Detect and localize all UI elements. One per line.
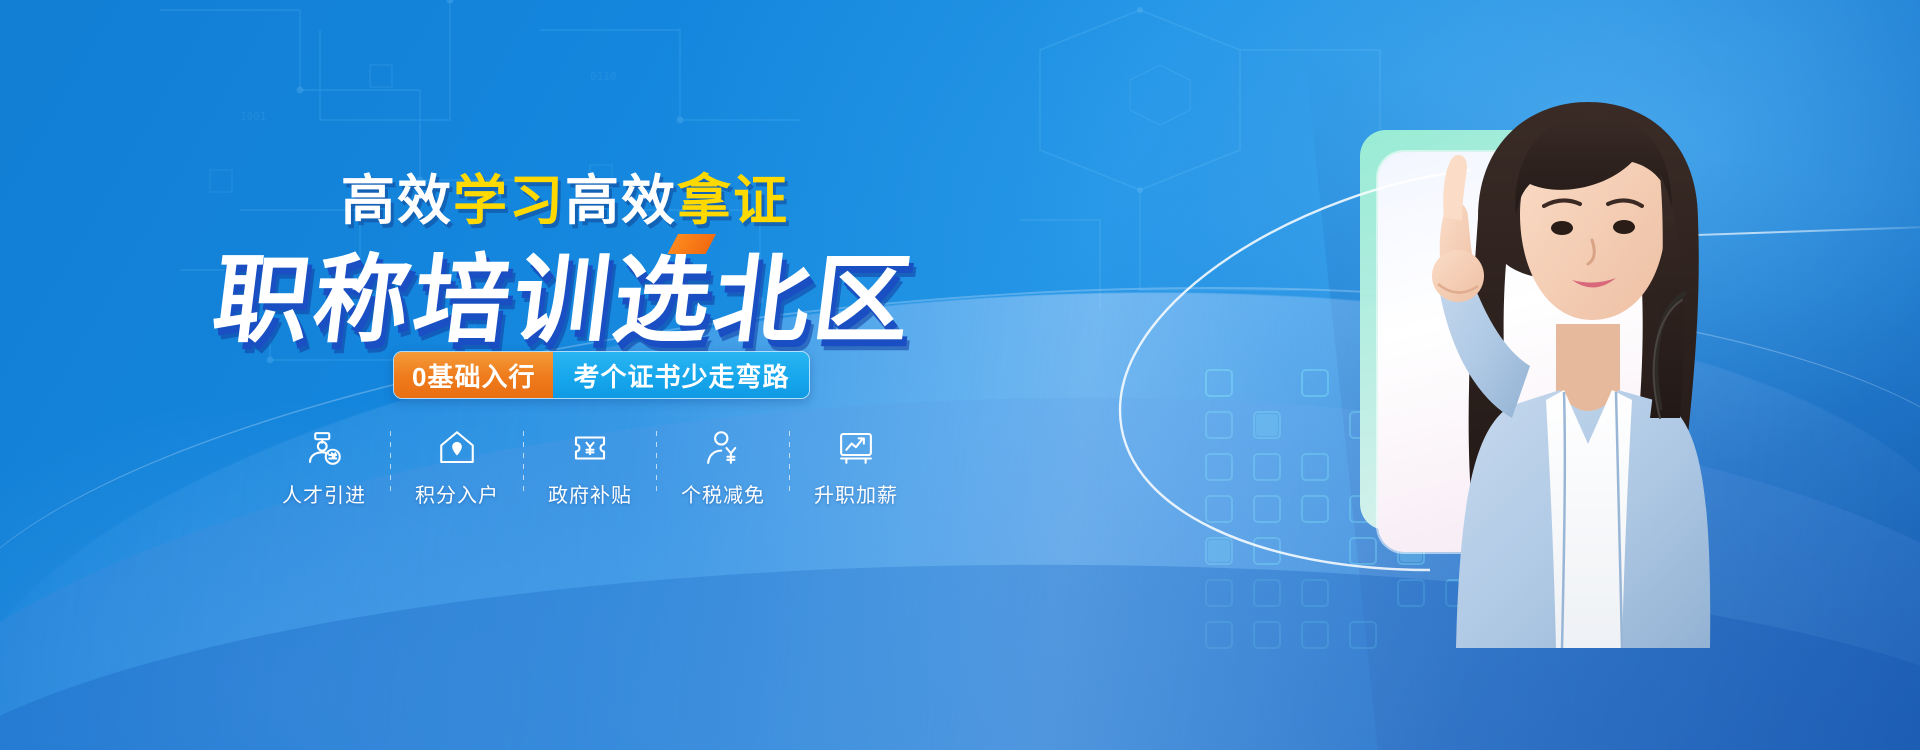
status-badge: 0基础入行 考个证书少走弯路 [393, 351, 810, 399]
promo-banner: 2 39 0110 1001 [0, 0, 1920, 750]
feature-label: 人才引进 [282, 479, 366, 508]
feature-item-residency[interactable]: 积分入户 [391, 427, 523, 508]
banner-content: 高效学习高效拿证 职称培训选北区 0基础入行 考个证书少走弯路 [0, 0, 1100, 750]
headline-main-text: 职称培训选北区 [207, 247, 920, 354]
badge-left-label: 0基础入行 [394, 352, 553, 398]
person-yuan-icon [702, 427, 744, 469]
feature-label: 升职加薪 [814, 479, 898, 508]
feature-item-talent[interactable]: 人才引进 [258, 427, 390, 508]
feature-item-promotion[interactable]: 升职加薪 [790, 427, 922, 508]
avatar [1360, 88, 1830, 648]
feature-item-taxcut[interactable]: 个税减免 [657, 427, 789, 508]
chart-board-icon [835, 427, 877, 469]
ticket-yuan-icon [569, 427, 611, 469]
feature-list: 人才引进 积分入户 [258, 427, 922, 508]
page-title: 职称培训选北区 [206, 222, 923, 361]
graduate-person-icon [303, 427, 345, 469]
feature-item-subsidy[interactable]: 政府补贴 [524, 427, 656, 508]
feature-label: 个税减免 [681, 479, 765, 508]
feature-label: 政府补贴 [548, 479, 632, 508]
badge-right-label: 考个证书少走弯路 [553, 352, 809, 398]
hero-visual [1060, 0, 1920, 750]
house-pin-icon [436, 427, 478, 469]
headline-main-wrap: 职称培训选北区 [0, 222, 1130, 361]
feature-label: 积分入户 [415, 479, 499, 508]
